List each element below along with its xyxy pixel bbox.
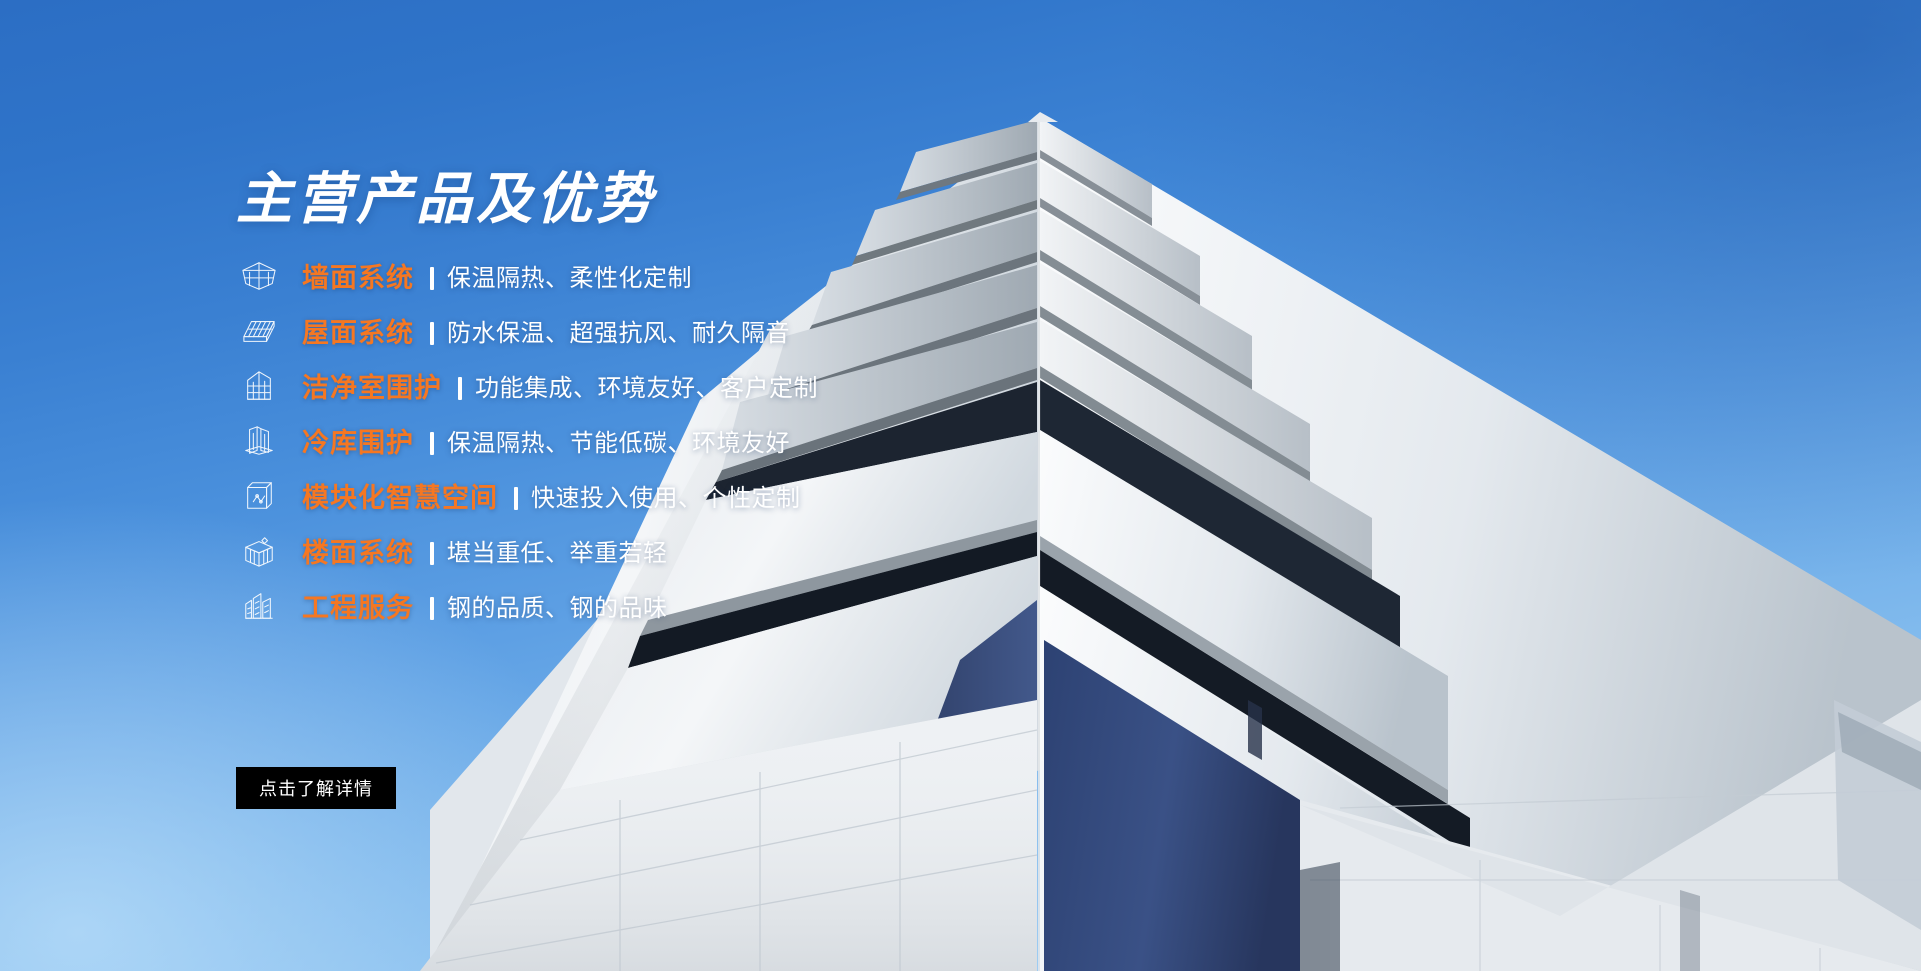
list-item[interactable]: 楼面系统 堪当重任、举重若轻 [236, 523, 996, 578]
cleanroom-enclosure-icon [236, 366, 282, 406]
separator-bar [430, 267, 434, 290]
page-title: 主营产品及优势 [236, 170, 656, 229]
separator-bar [430, 322, 434, 345]
product-desc: 保温隔热、节能低碳、环境友好 [447, 423, 790, 458]
separator-bar [430, 432, 434, 455]
engineering-service-icon [236, 586, 282, 626]
product-desc: 防水保温、超强抗风、耐久隔音 [447, 313, 790, 348]
product-desc: 快速投入使用、个性定制 [531, 478, 801, 513]
product-desc: 功能集成、环境友好、客户定制 [475, 368, 818, 403]
list-item[interactable]: 墙面系统 保温隔热、柔性化定制 [236, 248, 996, 303]
roof-system-icon [236, 311, 282, 351]
product-desc: 堪当重任、举重若轻 [447, 533, 668, 568]
list-item[interactable]: 屋面系统 防水保温、超强抗风、耐久隔音 [236, 303, 996, 358]
product-title: 工程服务 [302, 586, 414, 625]
list-item[interactable]: 模块化智慧空间 快速投入使用、个性定制 [236, 468, 996, 523]
cold-storage-enclosure-icon [236, 421, 282, 461]
product-title: 洁净室围护 [302, 366, 442, 405]
learn-more-button[interactable]: 点击了解详情 [236, 767, 396, 809]
product-desc: 钢的品质、钢的品味 [447, 588, 668, 623]
hero-content: 主营产品及优势 墙面系统 保温隔热、柔性化定制 [236, 0, 996, 971]
product-title: 屋面系统 [302, 311, 414, 350]
product-title: 模块化智慧空间 [302, 476, 498, 515]
wall-system-icon [236, 256, 282, 296]
list-item[interactable]: 洁净室围护 功能集成、环境友好、客户定制 [236, 358, 996, 413]
product-title: 楼面系统 [302, 531, 414, 570]
product-desc: 保温隔热、柔性化定制 [447, 258, 692, 293]
product-title: 冷库围护 [302, 421, 414, 460]
product-title: 墙面系统 [302, 256, 414, 295]
separator-bar [430, 542, 434, 565]
cold-storage-enclosure-row[interactable]: 冷库围护 保温隔热、节能低碳、环境友好 [236, 413, 996, 468]
list-item[interactable]: 工程服务 钢的品质、钢的品味 [236, 578, 996, 633]
hero-banner: 主营产品及优势 墙面系统 保温隔热、柔性化定制 [0, 0, 1921, 971]
floor-system-icon [236, 531, 282, 571]
separator-bar [458, 377, 462, 400]
product-list: 墙面系统 保温隔热、柔性化定制 [236, 248, 996, 633]
separator-bar [514, 487, 518, 510]
separator-bar [430, 597, 434, 620]
modular-smart-space-icon [236, 476, 282, 516]
